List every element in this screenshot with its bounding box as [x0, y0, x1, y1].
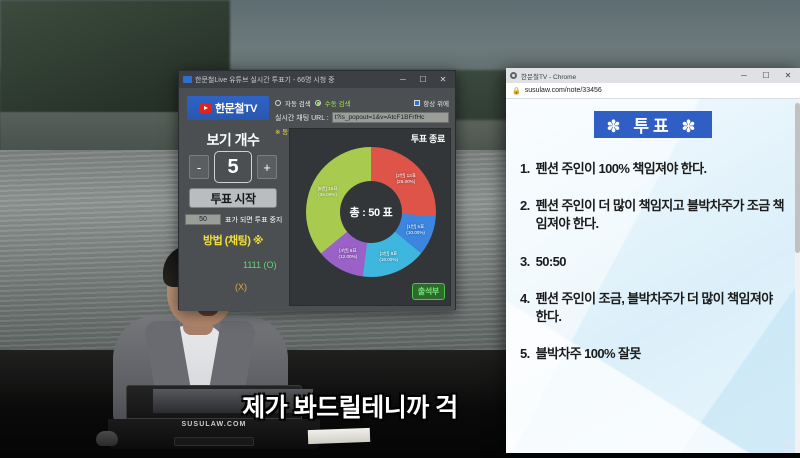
radio-manual-search-label: 수동 검색: [325, 98, 351, 108]
browser-title: 한문철TV - Chrome: [521, 71, 733, 81]
list-item: 2.펜션 주인이 더 많이 책임지고 블박차주가 조금 책임져야 한다.: [520, 197, 786, 233]
donut-chart: 총 : 50 표 [2번] 13표(26.00%)[1번] 5표(10.00%)…: [306, 147, 436, 277]
clock-line-1: 오후: [782, 441, 796, 448]
chat-url-row[interactable]: 실시간 채팅 URL : t?is_popout=1&v=AtcF1BFrfHc: [275, 112, 449, 123]
page-title: ✽ 투표 ✽: [506, 111, 800, 138]
list-item-text: 펜션 주인이 100% 책임져야 한다.: [536, 160, 786, 178]
donut-total-label: 총 : 50 표: [350, 204, 393, 220]
option-count-value[interactable]: 5: [214, 151, 252, 183]
list-item-text: 펜션 주인이 조금, 블박차주가 더 많이 책임져야 한다.: [536, 290, 786, 326]
donut-slice-label: [2번] 13표(26.00%): [384, 173, 428, 185]
donut-slice-label: [4번] 6표(12.00%): [326, 248, 370, 260]
radio-auto-search-label: 자동 검색: [285, 98, 311, 108]
desk-papers: [308, 428, 370, 444]
app-logo-icon: [183, 76, 192, 83]
start-vote-button[interactable]: 투표 시작: [189, 188, 277, 208]
vote-method-label: 방법 (채팅) ※: [203, 232, 263, 248]
browser-address-bar[interactable]: 🔒 susulaw.com/note/33456: [506, 83, 800, 99]
scrollbar-thumb[interactable]: [795, 103, 800, 253]
clock-line-2: 2023-: [782, 449, 796, 456]
taskbar-clock: 오후 2023-: [782, 441, 796, 456]
page-scrollbar[interactable]: [795, 99, 800, 453]
donut-slice-label: [1번] 5표(10.00%): [394, 224, 438, 236]
option-count-label: 보기 개수: [185, 130, 281, 150]
chat-url-input[interactable]: t?is_popout=1&v=AtcF1BFrfHc: [332, 112, 449, 123]
vote-option-list: 1.펜션 주인이 100% 책임져야 한다.2.펜션 주인이 더 많이 책임지고…: [520, 160, 800, 363]
list-item-number: 4.: [520, 290, 530, 326]
vote-app-window-controls[interactable]: ─ ☐ ✕: [393, 72, 453, 88]
list-item-text: 펜션 주인이 더 많이 책임지고 블박차주가 조금 책임져야 한다.: [536, 197, 786, 233]
checkbox-icon[interactable]: [414, 100, 420, 106]
close-icon[interactable]: ✕: [777, 68, 799, 83]
computer-mouse: [96, 431, 118, 446]
always-on-top-label: 항상 위에: [423, 98, 449, 108]
browser-favicon-icon: [510, 72, 517, 79]
channel-logo-text: 한문철TV: [215, 100, 257, 116]
vote-app-body: 한문철TV 자동 검색 수동 검색 항상 위에 실시간 채팅 URL : t?i…: [179, 88, 455, 311]
page-title-text: ✽ 투표 ✽: [594, 111, 711, 138]
chrome-browser-window[interactable]: 한문철TV - Chrome ─ ☐ ✕ 🔒 susulaw.com/note/…: [506, 68, 800, 453]
increment-button[interactable]: +: [257, 155, 277, 179]
address-bar-url[interactable]: susulaw.com/note/33456: [525, 87, 602, 94]
list-item-text: 블박차주 100% 잘못: [536, 345, 786, 363]
option-o-text: 1111 (O): [243, 260, 277, 270]
auto-stop-threshold-input[interactable]: 50: [185, 214, 221, 225]
minimize-icon[interactable]: ─: [733, 68, 755, 83]
list-item-text: 50:50: [536, 253, 786, 271]
radio-manual-search[interactable]: [315, 100, 321, 106]
donut-slice-label: [5번] 18표(36.00%): [306, 186, 350, 198]
close-icon[interactable]: ✕: [433, 72, 453, 88]
search-mode-radio-group[interactable]: 자동 검색 수동 검색: [275, 98, 350, 108]
list-item-number: 2.: [520, 197, 530, 233]
channel-logo: 한문철TV: [187, 96, 269, 120]
list-item: 4.펜션 주인이 조금, 블박차주가 더 많이 책임져야 한다.: [520, 290, 786, 326]
radio-auto-search[interactable]: [275, 100, 281, 106]
browser-window-controls[interactable]: ─ ☐ ✕: [733, 68, 799, 83]
always-on-top-checkbox[interactable]: 항상 위에: [414, 98, 449, 108]
minimize-icon[interactable]: ─: [393, 72, 413, 88]
donut-slice-label: [3번] 8표(16.00%): [367, 251, 411, 263]
decrement-button[interactable]: -: [189, 155, 209, 179]
vote-app-window[interactable]: 한문철Live 유튜브 실시간 투표기 - 66명 시청 중 ─ ☐ ✕ 한문철…: [178, 70, 456, 310]
browser-titlebar[interactable]: 한문철TV - Chrome ─ ☐ ✕: [506, 68, 800, 83]
lock-icon: 🔒: [512, 87, 521, 95]
vote-status-label: 투표 종료: [411, 132, 445, 145]
vote-result-chart-panel: 투표 종료 총 : 50 표 [2번] 13표(26.00%)[1번] 5표(1…: [289, 128, 451, 306]
list-item-number: 5.: [520, 345, 530, 363]
list-item-number: 1.: [520, 160, 530, 178]
vote-app-titlebar[interactable]: 한문철Live 유튜브 실시간 투표기 - 66명 시청 중 ─ ☐ ✕: [179, 71, 455, 88]
list-item-number: 3.: [520, 253, 530, 271]
auto-stop-label: 표가 되면 투표 중지: [225, 215, 282, 225]
maximize-icon[interactable]: ☐: [755, 68, 777, 83]
chat-url-label: 실시간 채팅 URL :: [275, 113, 329, 123]
browser-page-content: ✽ 투표 ✽ 1.펜션 주인이 100% 책임져야 한다.2.펜션 주인이 더 …: [506, 99, 800, 453]
vote-app-title: 한문철Live 유튜브 실시간 투표기 - 66명 시청 중: [195, 75, 393, 85]
broadcast-subtitle: 제가 봐드릴테니까 걱: [180, 388, 520, 424]
list-item: 5.블박차주 100% 잘못: [520, 345, 786, 363]
attendance-button[interactable]: 출석부: [412, 283, 445, 300]
youtube-icon: [199, 104, 212, 113]
option-x-text: (X): [235, 282, 247, 292]
option-count-stepper[interactable]: - 5 +: [189, 150, 277, 184]
laptop-trackpad: [174, 437, 254, 446]
list-item: 3.50:50: [520, 253, 786, 271]
list-item: 1.펜션 주인이 100% 책임져야 한다.: [520, 160, 786, 178]
maximize-icon[interactable]: ☐: [413, 72, 433, 88]
